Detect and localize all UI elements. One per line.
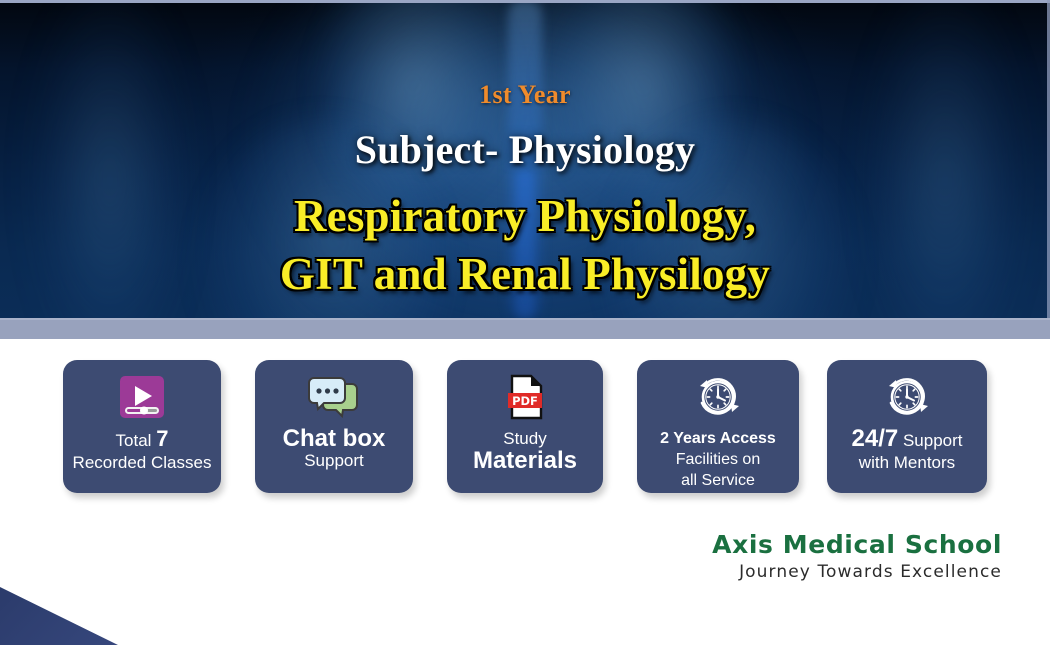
brand-logo: Axis Medical School Journey Towards Exce… <box>712 530 1002 582</box>
clock-icon <box>883 371 931 423</box>
topic-line-2: GIT and Renal Physilogy <box>280 249 770 299</box>
promo-poster: 1st Year Subject- Physiology Respiratory… <box>0 0 1050 645</box>
brand-tagline: Journey Towards Excellence <box>712 562 1002 582</box>
card-4-line-3: all Service <box>660 470 776 491</box>
feature-card-support[interactable]: 24/7 Support with Mentors <box>827 360 987 493</box>
card-4-line-2: Facilities on <box>660 449 776 470</box>
card-5-value: 24/7 <box>852 425 899 452</box>
card-5-line-1: 24/7 Support <box>852 428 963 452</box>
card-1-line-1: Total 7 <box>73 428 212 452</box>
hero-top-edge <box>0 0 1050 3</box>
topic-title: Respiratory Physiology, GIT and Renal Ph… <box>0 187 1050 303</box>
card-1-text: Total 7 Recorded Classes <box>73 428 212 474</box>
section-divider-highlight <box>0 318 1050 320</box>
feature-cards: Total 7 Recorded Classes Chat box Suppor… <box>0 360 1050 500</box>
corner-accent-shape <box>0 587 118 645</box>
card-1-line-2: Recorded Classes <box>73 452 212 474</box>
card-5-line-2: with Mentors <box>852 452 963 474</box>
card-3-line-2: Materials <box>473 450 577 472</box>
card-4-text: 2 Years Access Facilities on all Service <box>660 428 776 491</box>
card-1-prefix: Total <box>116 431 157 450</box>
card-4-line-1: 2 Years Access <box>660 428 776 449</box>
card-2-line-1: Chat box <box>283 428 386 450</box>
svg-text:PDF: PDF <box>512 394 538 408</box>
feature-card-two-years-access[interactable]: 2 Years Access Facilities on all Service <box>637 360 799 493</box>
pdf-file-icon: PDF <box>502 371 548 423</box>
feature-card-recorded-classes[interactable]: Total 7 Recorded Classes <box>63 360 221 493</box>
card-5-text: 24/7 Support with Mentors <box>852 428 963 474</box>
feature-card-study-materials[interactable]: PDF Study Materials <box>447 360 603 493</box>
section-divider <box>0 318 1050 339</box>
clock-icon <box>694 371 742 423</box>
chat-bubbles-icon <box>306 371 362 423</box>
hero-text-block: 1st Year Subject- Physiology Respiratory… <box>0 0 1050 318</box>
video-player-icon <box>116 371 168 423</box>
card-5-suffix: Support <box>898 431 962 450</box>
year-label: 1st Year <box>0 80 1050 110</box>
subject-title: Subject- Physiology <box>0 126 1050 173</box>
card-1-count: 7 <box>156 426 168 451</box>
card-3-text: Study Materials <box>473 428 577 472</box>
card-2-line-2: Support <box>283 450 386 472</box>
hero-banner: 1st Year Subject- Physiology Respiratory… <box>0 0 1050 318</box>
brand-name: Axis Medical School <box>712 530 1002 559</box>
feature-card-chat-box[interactable]: Chat box Support <box>255 360 413 493</box>
card-2-text: Chat box Support <box>283 428 386 472</box>
topic-line-1: Respiratory Physiology, <box>294 191 756 241</box>
